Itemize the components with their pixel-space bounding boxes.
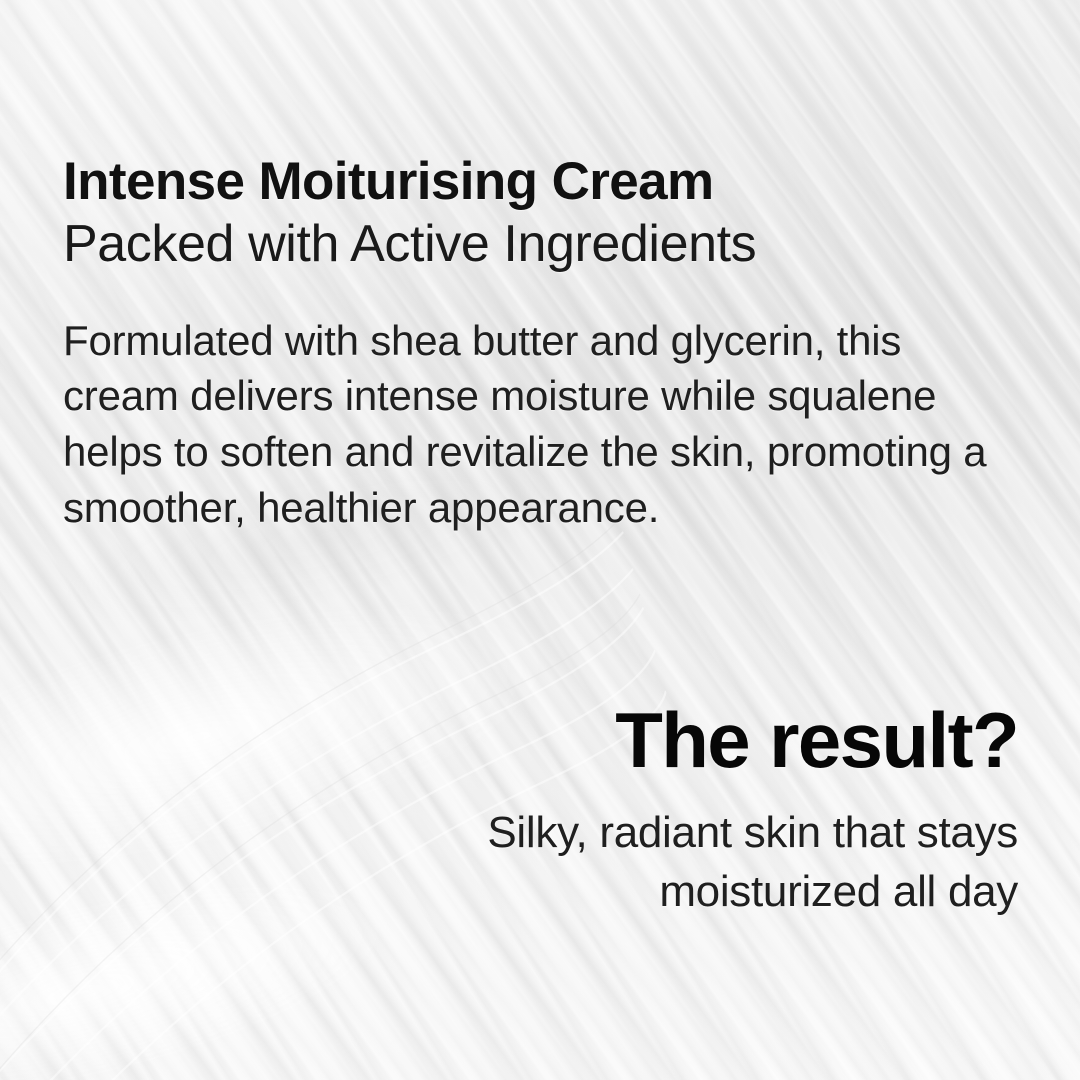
product-intro-block: Intense Moiturising Cream Packed with Ac… [63, 152, 1018, 536]
product-subheadline: Packed with Active Ingredients [63, 215, 1018, 274]
promo-canvas: Intense Moiturising Cream Packed with Ac… [0, 0, 1080, 1080]
result-block: The result? Silky, radiant skin that sta… [258, 700, 1018, 922]
product-description: Formulated with shea butter and glycerin… [63, 313, 1018, 536]
result-description: Silky, radiant skin that stays moisturiz… [258, 804, 1018, 922]
product-headline: Intense Moiturising Cream [63, 152, 1018, 211]
content-layer: Intense Moiturising Cream Packed with Ac… [0, 0, 1080, 1080]
result-headline: The result? [258, 700, 1018, 782]
